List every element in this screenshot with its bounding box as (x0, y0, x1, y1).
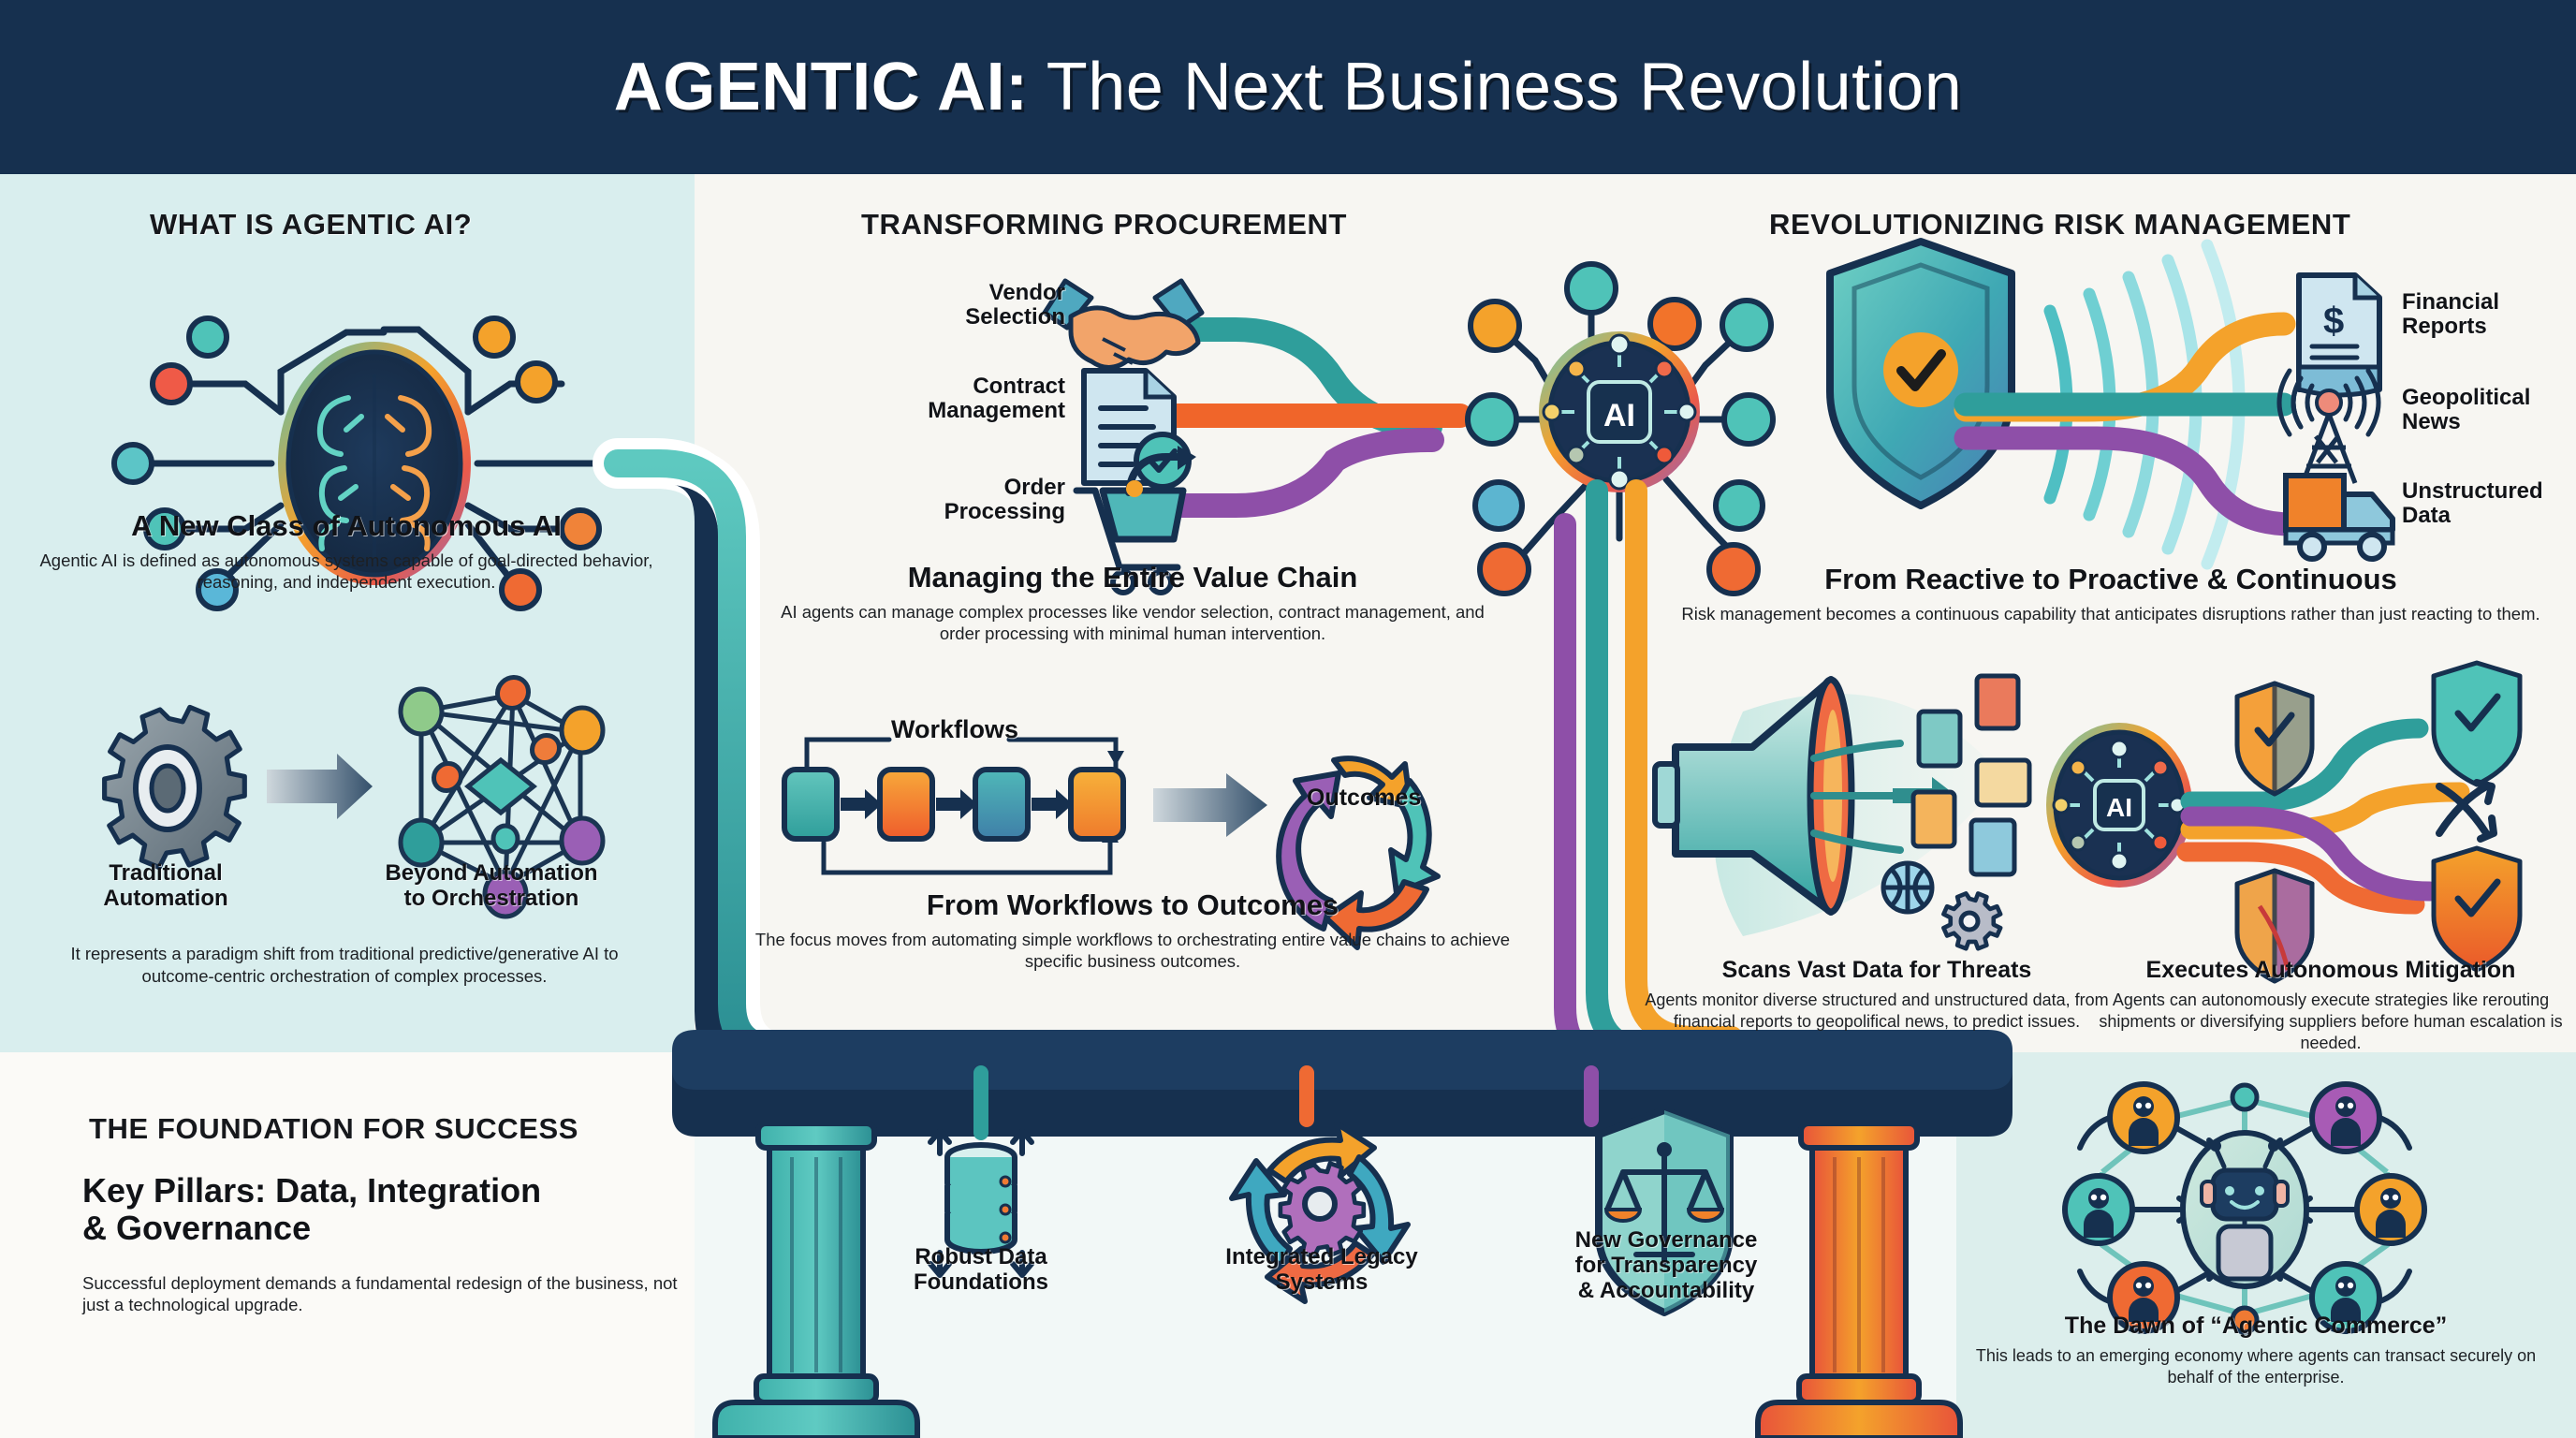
beyond-automation-label: Beyond Automation to Orchestration (346, 861, 637, 912)
header-banner: AGENTIC AI: The Next Business Revolution (0, 0, 2576, 174)
risk-card-mitigation-description: Agents can autonomously execute strategi… (2097, 990, 2565, 1054)
procurement-input-vendor-selection: Vendor Selection (842, 281, 1065, 330)
infographic-root: AI (0, 0, 2576, 1438)
panel-what-is-agentic-ai (0, 174, 695, 1052)
risk-output-financial-reports: Financial Reports (2402, 290, 2576, 340)
agentic-commerce-title: The Dawn of “Agentic Commerce” (1975, 1313, 2537, 1339)
agentic-commerce-summary: The Dawn of “Agentic Commerce” This lead… (1975, 1313, 2537, 1388)
foundation-description: Successful deployment demands a fundamen… (82, 1272, 681, 1316)
paradigm-shift-description: It represents a paradigm shift from trad… (45, 936, 644, 987)
pillar-label-governance: New Governance for Transparency & Accoun… (1507, 1228, 1825, 1304)
risk-proactive-description: Risk management becomes a continuous cap… (1666, 603, 2555, 625)
risk-output-unstructured-data: Unstructured Data (2402, 479, 2576, 529)
value-chain-title: Managing the Entire Value Chain (758, 562, 1507, 594)
page-title: AGENTIC AI: The Next Business Revolution (614, 49, 1963, 125)
traditional-automation-label: Traditional Automation (58, 861, 273, 912)
workflows-label: Workflows (891, 715, 1018, 744)
value-chain-description: AI agents can manage complex processes l… (758, 601, 1507, 645)
value-chain-summary: Managing the Entire Value Chain AI agent… (758, 562, 1507, 645)
foundation-title-line1: Key Pillars: Data, Integration (82, 1172, 681, 1210)
risk-proactive-summary: From Reactive to Proactive & Continuous … (1666, 564, 2555, 624)
procurement-input-contract-management: Contract Management (842, 374, 1065, 424)
outcomes-label: Outcomes (1307, 785, 1421, 812)
pillar-label-robust-data: Robust Data Foundations (878, 1245, 1084, 1296)
what-is-summary: A New Class of Autonomous AI Agentic AI … (37, 510, 655, 594)
risk-output-geopolitical-news: Geopolitical News (2402, 386, 2576, 435)
workflows-to-outcomes-title: From Workflows to Outcomes (749, 889, 1516, 922)
section-heading-foundation: THE FOUNDATION FOR SUCCESS (89, 1112, 578, 1146)
pillar-label-legacy-systems: Integrated Legacy Systems (1191, 1245, 1453, 1296)
workflows-to-outcomes-summary: From Workflows to Outcomes The focus mov… (749, 889, 1516, 973)
page-title-bold: AGENTIC AI: (614, 50, 1029, 125)
section-heading-what-is: WHAT IS AGENTIC AI? (150, 208, 472, 242)
risk-card-scans-description: Agents monitor diverse structured and un… (1638, 990, 2115, 1033)
section-heading-procurement: TRANSFORMING PROCUREMENT (861, 208, 1347, 242)
procurement-input-order-processing: Order Processing (842, 476, 1065, 525)
foundation-title-line2: & Governance (82, 1210, 681, 1247)
what-is-description: Agentic AI is defined as autonomous syst… (37, 550, 655, 594)
risk-card-mitigation-title: Executes Autonomous Mitigation (2097, 957, 2565, 983)
foundation-summary: Key Pillars: Data, Integration & Governa… (82, 1172, 681, 1316)
page-title-rest: The Next Business Revolution (1029, 50, 1963, 125)
section-heading-risk: REVOLUTIONIZING RISK MANAGEMENT (1769, 208, 2350, 242)
risk-card-mitigation: Executes Autonomous Mitigation Agents ca… (2097, 957, 2565, 1054)
risk-card-scans: Scans Vast Data for Threats Agents monit… (1638, 957, 2115, 1033)
risk-card-scans-title: Scans Vast Data for Threats (1638, 957, 2115, 983)
workflows-to-outcomes-description: The focus moves from automating simple w… (749, 929, 1516, 973)
agentic-commerce-description: This leads to an emerging economy where … (1975, 1345, 2537, 1388)
what-is-title: A New Class of Autonomous AI (37, 510, 655, 543)
risk-proactive-title: From Reactive to Proactive & Continuous (1666, 564, 2555, 596)
